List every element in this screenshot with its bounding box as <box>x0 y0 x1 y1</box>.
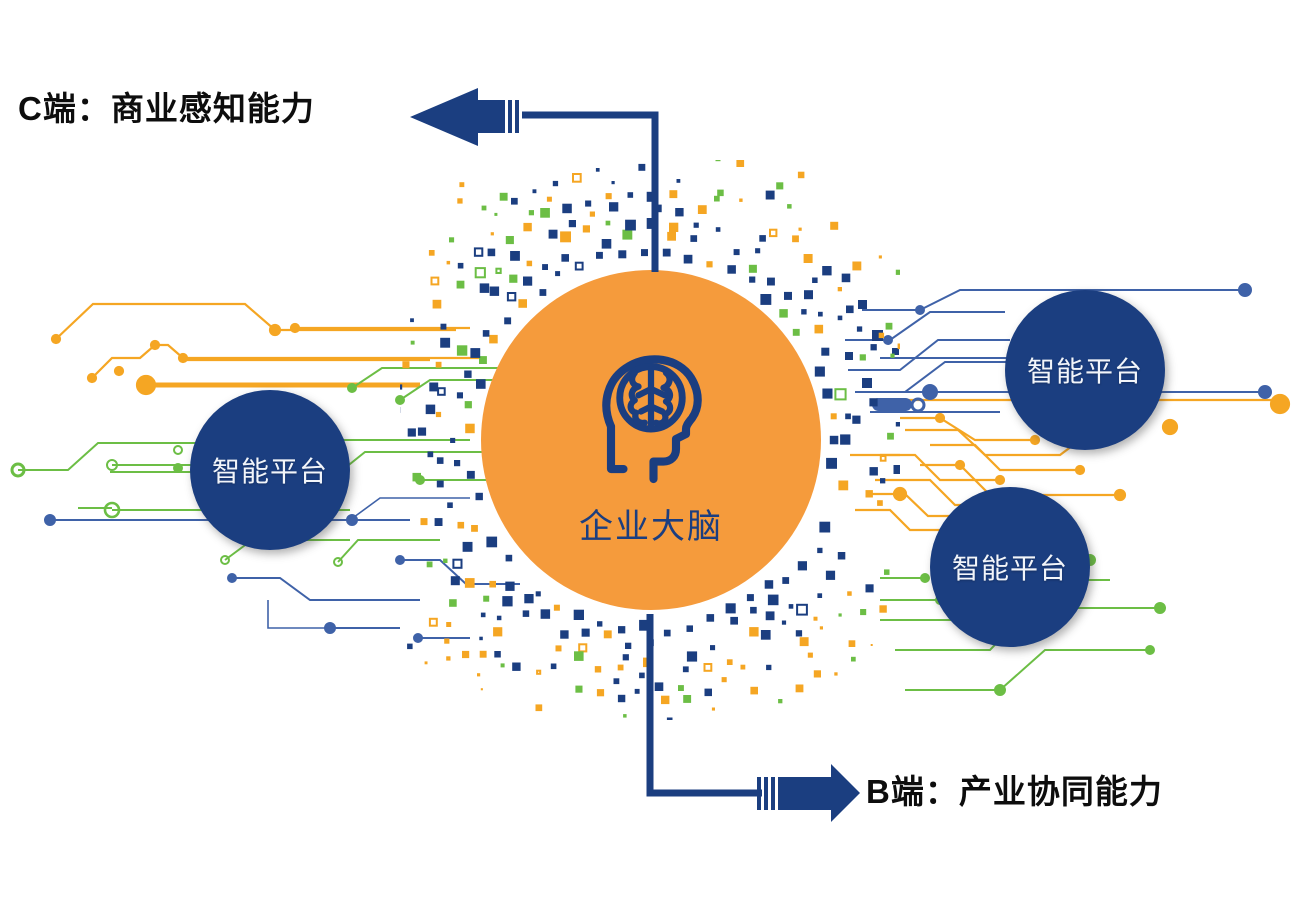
diagram-canvas: 智能平台 智能平台 智能平台 企业大脑 <box>0 0 1295 898</box>
callout-label-c-end: C端：商业感知能力 <box>18 92 315 125</box>
node-circle-right-bottom[interactable]: 智能平台 <box>930 487 1090 647</box>
central-hub-circle[interactable]: 企业大脑 <box>481 270 821 610</box>
node-label: 智能平台 <box>1027 350 1143 390</box>
hub-label: 企业大脑 <box>579 499 723 548</box>
node-circle-left[interactable]: 智能平台 <box>190 390 350 550</box>
node-label: 智能平台 <box>952 547 1068 587</box>
node-label: 智能平台 <box>212 450 328 490</box>
node-circle-right-top[interactable]: 智能平台 <box>1005 290 1165 450</box>
callout-label-b-end: B端：产业协同能力 <box>866 775 1163 808</box>
brain-head-icon <box>576 339 726 489</box>
